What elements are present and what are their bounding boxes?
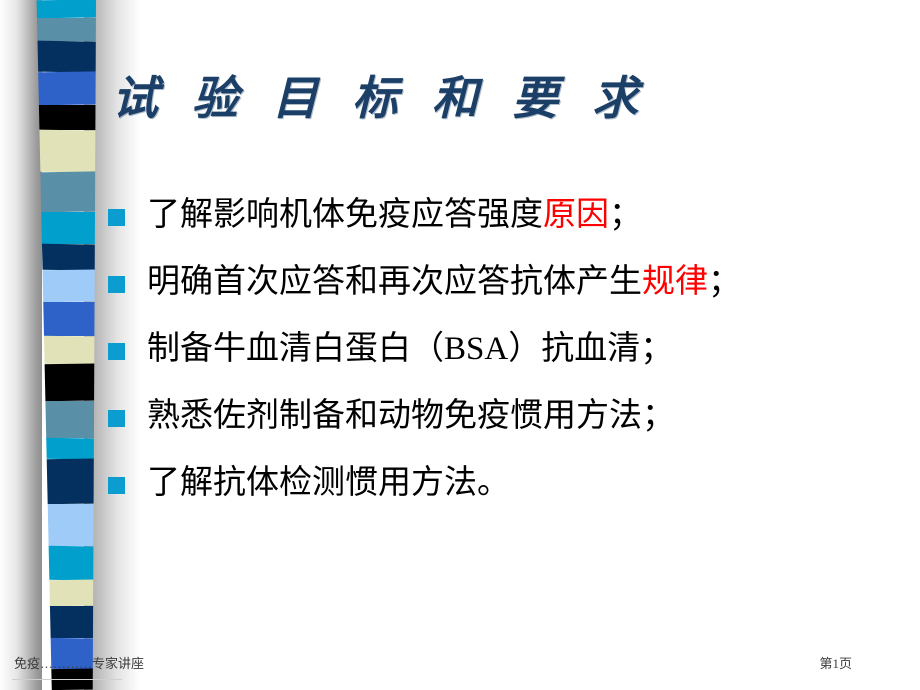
square-bullet-icon xyxy=(108,410,125,427)
list-item: 制备牛血清白蛋白（BSA）抗血清； xyxy=(108,316,908,383)
list-item-text-pre: 了解抗体检测惯用方法。 xyxy=(147,465,510,501)
list-item-text: 了解影响机体免疫应答强度原因； xyxy=(147,199,642,232)
list-item-text-pre: 了解影响机体免疫应答强度 xyxy=(147,197,543,233)
list-item: 了解影响机体免疫应答强度原因； xyxy=(108,182,908,249)
list-item-text: 了解抗体检测惯用方法。 xyxy=(147,467,510,500)
list-item-text-post: ； xyxy=(609,197,642,233)
list-item-text-pre: 制备牛血清白蛋白（BSA）抗血清； xyxy=(147,331,673,367)
ribbon-shadow-left xyxy=(0,0,42,690)
list-item-text-post: ； xyxy=(708,264,741,300)
list-item: 明确首次应答和再次应答抗体产生规律； xyxy=(108,249,908,316)
square-bullet-icon xyxy=(108,477,125,494)
square-bullet-icon xyxy=(108,209,125,226)
list-item-text-highlight: 原因 xyxy=(543,197,609,233)
footer-note: 免疫…………专家讲座 xyxy=(14,653,144,672)
list-item-text: 制备牛血清白蛋白（BSA）抗血清； xyxy=(147,333,673,366)
list-item-text-pre: 熟悉佐剂制备和动物免疫惯用方法； xyxy=(147,398,675,434)
list-item-text: 明确首次应答和再次应答抗体产生规律； xyxy=(147,266,741,299)
list-item: 了解抗体检测惯用方法。 xyxy=(108,450,908,517)
page-number: 第1页 xyxy=(819,653,852,672)
footer-divider xyxy=(12,679,122,680)
list-item-text-highlight: 规律 xyxy=(642,264,708,300)
list-item: 熟悉佐剂制备和动物免疫惯用方法； xyxy=(108,383,908,450)
presentation-slide: 试 验 目 标 和 要 求 了解影响机体免疫应答强度原因； 明确首次应答和再次应… xyxy=(0,0,920,690)
list-item-text-pre: 明确首次应答和再次应答抗体产生 xyxy=(147,264,642,300)
square-bullet-icon xyxy=(108,276,125,293)
bullet-list: 了解影响机体免疫应答强度原因； 明确首次应答和再次应答抗体产生规律； 制备牛血清… xyxy=(108,182,908,517)
page-title: 试 验 目 标 和 要 求 xyxy=(112,62,752,128)
square-bullet-icon xyxy=(108,343,125,360)
list-item-text: 熟悉佐剂制备和动物免疫惯用方法； xyxy=(147,400,675,433)
